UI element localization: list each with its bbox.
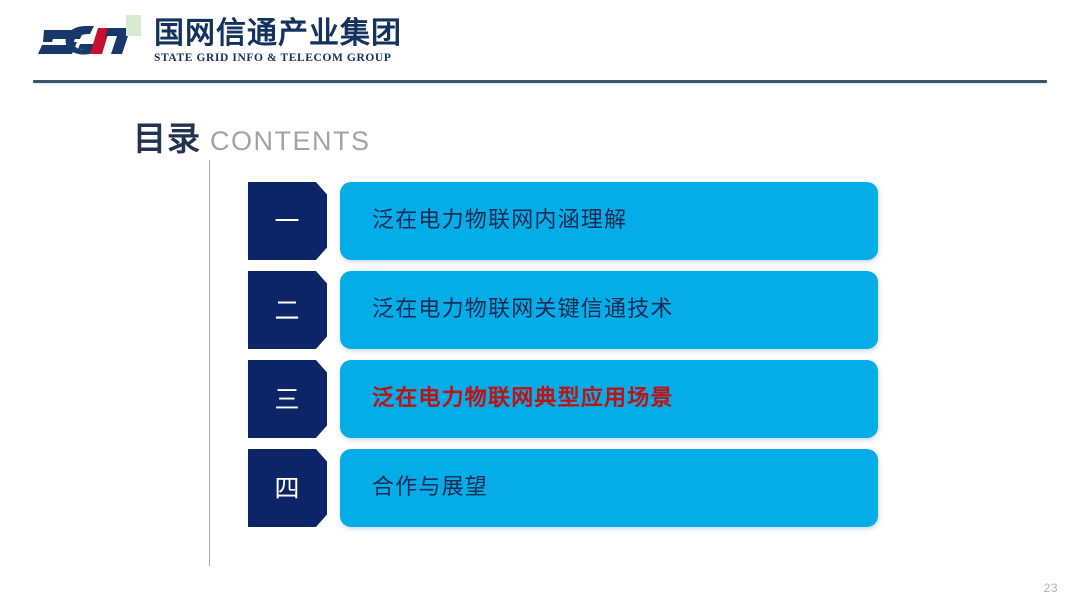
item-number-label: 四: [274, 476, 300, 501]
item-number-badge: 一: [248, 182, 327, 260]
contents-item-4[interactable]: 四 合作与展望: [248, 449, 878, 527]
item-bar[interactable]: 泛在电力物联网关键信通技术: [340, 271, 878, 349]
brand-wordmark: 国网信通产业集团 STATE GRID INFO & TELECOM GROUP: [154, 14, 402, 64]
contents-item-2[interactable]: 二 泛在电力物联网关键信通技术: [248, 271, 878, 349]
item-bar[interactable]: 泛在电力物联网内涵理解: [340, 182, 878, 260]
item-number-badge: 二: [248, 271, 327, 349]
company-name-cn: 国网信通产业集团: [154, 18, 402, 50]
sgit-logo-icon: [36, 14, 144, 66]
item-number-label: 一: [274, 209, 300, 234]
item-number-label: 三: [274, 387, 300, 412]
green-square-accent: [126, 15, 141, 36]
slide-header: 国网信通产业集团 STATE GRID INFO & TELECOM GROUP: [0, 0, 1080, 90]
item-number-badge: 四: [248, 449, 327, 527]
page-number: 23: [1044, 581, 1058, 595]
vertical-guide-line: [209, 160, 210, 566]
contents-list: 一 泛在电力物联网内涵理解 二 泛在电力物联网关键信通技术 三 泛在电力物联网典…: [248, 182, 878, 527]
brand-logo: 国网信通产业集团 STATE GRID INFO & TELECOM GROUP: [36, 14, 402, 66]
item-bar[interactable]: 合作与展望: [340, 449, 878, 527]
item-label: 泛在电力物联网内涵理解: [372, 210, 627, 232]
item-label: 合作与展望: [372, 477, 488, 499]
item-bar[interactable]: 泛在电力物联网典型应用场景: [340, 360, 878, 438]
header-divider: [33, 80, 1047, 83]
item-label: 泛在电力物联网典型应用场景: [372, 388, 674, 410]
contents-item-3[interactable]: 三 泛在电力物联网典型应用场景: [248, 360, 878, 438]
item-label: 泛在电力物联网关键信通技术: [372, 299, 674, 321]
item-number-badge: 三: [248, 360, 327, 438]
contents-item-1[interactable]: 一 泛在电力物联网内涵理解: [248, 182, 878, 260]
page-title-cn: 目录: [133, 122, 201, 155]
page-title-en: CONTENTS: [210, 128, 371, 155]
company-name-en: STATE GRID INFO & TELECOM GROUP: [154, 52, 402, 64]
item-number-label: 二: [274, 298, 300, 323]
page-title: 目录 CONTENTS: [133, 122, 371, 155]
